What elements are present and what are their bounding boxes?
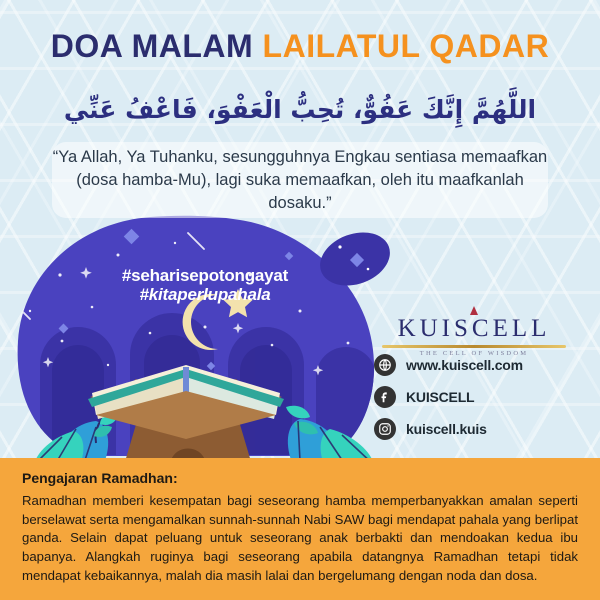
hashtag-block: #seharisepotongayat #kitaperlupahala bbox=[95, 266, 315, 304]
hashtag-secondary: #kitaperlupahala bbox=[95, 285, 315, 304]
social-row-instagram[interactable]: kuiscell.kuis bbox=[374, 416, 574, 442]
flame-icon bbox=[470, 306, 478, 315]
social-row-facebook[interactable]: KUISCELL bbox=[374, 384, 574, 410]
hashtag-primary: #seharisepotongayat bbox=[95, 266, 315, 285]
social-row-website[interactable]: www.kuiscell.com bbox=[374, 352, 574, 378]
title-secondary: LAILATUL QADAR bbox=[263, 28, 550, 64]
footer-body-text: Ramadhan memberi kesempatan bagi seseora… bbox=[22, 492, 578, 586]
social-links: www.kuiscell.com KUISCELL kuiscell.kuis bbox=[374, 352, 574, 448]
facebook-icon bbox=[374, 386, 396, 408]
brand-divider bbox=[382, 345, 566, 348]
footer-heading: Pengajaran Ramadhan: bbox=[22, 470, 578, 486]
brand-name: KUISCELL bbox=[374, 316, 574, 341]
arabic-dua-text: اللَّهُمَّ إِنَّكَ عَفُوٌّ، تُحِبُّ الْع… bbox=[0, 92, 600, 128]
translation-text: “Ya Allah, Ya Tuhanku, sesungguhnya Engk… bbox=[52, 146, 548, 214]
social-label-website: www.kuiscell.com bbox=[406, 357, 523, 373]
footer-section: Pengajaran Ramadhan: Ramadhan memberi ke… bbox=[0, 458, 600, 600]
title-primary: DOA MALAM bbox=[51, 28, 253, 64]
page-title: DOA MALAM LAILATUL QADAR bbox=[0, 30, 600, 62]
ramadan-illustration bbox=[0, 215, 420, 465]
poster: DOA MALAM LAILATUL QADAR اللَّهُمَّ إِنَ… bbox=[0, 0, 600, 600]
social-label-instagram: kuiscell.kuis bbox=[406, 421, 487, 437]
globe-icon bbox=[374, 354, 396, 376]
instagram-icon bbox=[374, 418, 396, 440]
social-label-facebook: KUISCELL bbox=[406, 389, 474, 405]
brand-logo: KUISCELL THE CELL OF WISDOM bbox=[374, 306, 574, 357]
